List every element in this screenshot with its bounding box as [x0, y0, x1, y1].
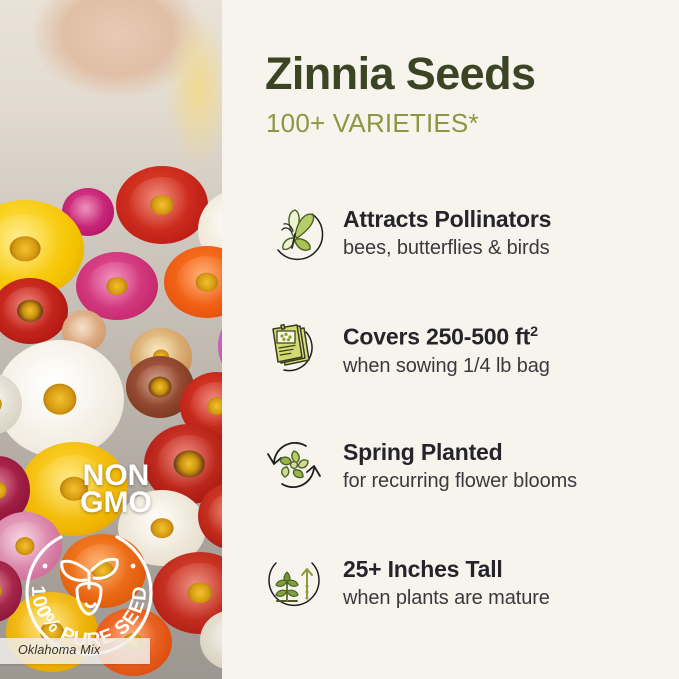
feature-heading-superscript: 2 [530, 324, 538, 340]
non-gmo-label: NONGMO [56, 462, 176, 516]
feature-heading: 25+ Inches Tall [343, 555, 550, 583]
non-gmo-pure-seed-badge: NONGMO [8, 462, 178, 622]
product-photo: NONGMO [0, 0, 222, 679]
feature-subtext: bees, butterflies & birds [343, 235, 551, 261]
feature-heading: Covers 250-500 ft2 [343, 318, 550, 351]
plant-height-arrow-icon [262, 550, 326, 614]
feature-subtext: when plants are mature [343, 585, 550, 611]
seal-dot-right [131, 564, 136, 569]
page-subtitle: 100+ VARIETIES* [266, 108, 479, 139]
feature-text: 25+ Inches Tall when plants are mature [343, 554, 550, 611]
photo-caption-text: Oklahoma Mix [18, 643, 100, 657]
feature-attracts-pollinators: Attracts Pollinators bees, butterflies &… [262, 194, 672, 270]
feature-plant-height: 25+ Inches Tall when plants are mature [262, 544, 672, 620]
feature-subtext: when sowing 1/4 lb bag [343, 353, 550, 379]
sprouting-seed-icon [62, 559, 117, 614]
seal-dot-left [43, 564, 48, 569]
feature-subtext: for recurring flower blooms [343, 468, 577, 494]
feature-heading: Attracts Pollinators [343, 205, 551, 233]
feature-text: Spring Planted for recurring flower bloo… [343, 437, 577, 494]
feature-heading-main: Covers 250-500 ft [343, 324, 530, 350]
butterfly-icon [262, 200, 326, 264]
feature-spring-planted: Spring Planted for recurring flower bloo… [262, 427, 672, 503]
content-panel: Zinnia Seeds 100+ VARIETIES* [222, 0, 679, 679]
feature-text: Attracts Pollinators bees, butterflies &… [343, 204, 551, 261]
seed-packet-icon [262, 316, 326, 380]
feature-text: Covers 250-500 ft2 when sowing 1/4 lb ba… [343, 317, 550, 379]
flower-recycle-icon [262, 433, 326, 497]
product-feature-card: NONGMO [0, 0, 679, 679]
feature-coverage-area: Covers 250-500 ft2 when sowing 1/4 lb ba… [262, 310, 672, 386]
photo-caption: Oklahoma Mix [0, 638, 150, 664]
feature-heading: Spring Planted [343, 438, 577, 466]
page-title: Zinnia Seeds [265, 48, 535, 100]
